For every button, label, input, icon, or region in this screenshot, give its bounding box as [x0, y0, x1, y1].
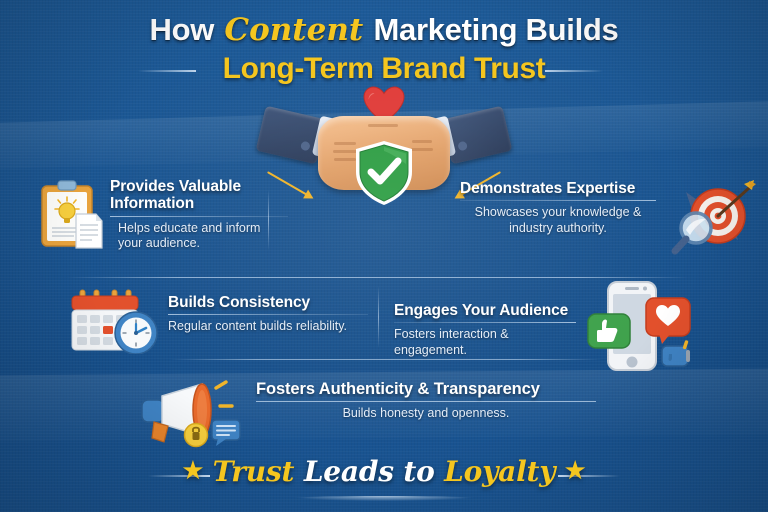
footer-word-leads-to: Leads to: [304, 455, 435, 488]
feature-builds-consistency: Builds Consistency Regular content build…: [68, 288, 368, 335]
divider-vertical-middle: [378, 286, 379, 348]
feature-fosters-authenticity-transparency: Fosters Authenticity & Transparency Buil…: [140, 380, 610, 422]
shield-check-icon: [354, 140, 414, 206]
feature-subtext: Builds honesty and openness.: [256, 406, 596, 422]
feature-heading: Fosters Authenticity & Transparency: [256, 380, 596, 398]
title-word-content: Content: [222, 12, 365, 48]
clipboard-lightbulb-icon: [38, 178, 104, 252]
title-line-2: Long-Term Brand Trust: [223, 52, 546, 86]
page-title: How Content Marketing Builds Long-Term B…: [0, 14, 768, 88]
feature-heading: Demonstrates Expertise: [460, 180, 656, 197]
footer-word-trust: Trust: [213, 455, 295, 488]
star-left-icon: ★: [183, 457, 203, 484]
handshake-cuff-right: [442, 106, 513, 165]
feature-underline: [256, 401, 596, 402]
feature-demonstrates-expertise: Demonstrates Expertise Showcases your kn…: [460, 180, 750, 237]
feature-heading: Builds Consistency: [168, 294, 368, 311]
calendar-clock-icon: [68, 288, 160, 354]
footer-word-loyalty: Loyalty: [444, 455, 555, 488]
target-magnifier-icon: [666, 178, 758, 260]
title-rule-left: [138, 70, 196, 72]
infographic-canvas: How Content Marketing Builds Long-Term B…: [0, 0, 768, 512]
feature-subtext: Showcases your knowledge & industry auth…: [460, 205, 656, 236]
feature-underline: [394, 322, 576, 323]
feature-subtext: Fosters interaction & engagement.: [394, 327, 576, 358]
footer-tagline: ★ Trust Leads to Loyalty ★: [183, 455, 586, 488]
feature-heading: Provides Valuable Information: [110, 178, 288, 213]
megaphone-lock-icon: [140, 380, 250, 448]
title-line-1: How Content Marketing Builds: [0, 14, 768, 47]
feature-heading: Engages Your Audience: [394, 302, 576, 319]
feature-underline: [168, 314, 368, 315]
title-word-how: How: [150, 12, 215, 47]
feature-provides-valuable-information: Provides Valuable Information Helps educ…: [38, 178, 288, 252]
feature-subtext: Regular content builds reliability.: [168, 319, 368, 335]
footer-swoosh: [289, 496, 479, 501]
phone-reactions-icon: [580, 276, 700, 376]
title-line-2-row: Long-Term Brand Trust: [0, 52, 768, 88]
title-rule-right: [545, 70, 603, 72]
feature-underline: [110, 216, 288, 217]
feature-engages-your-audience: Engages Your Audience Fosters interactio…: [394, 290, 744, 359]
title-word-marketing-builds: Marketing Builds: [374, 12, 619, 47]
feature-subtext: Helps educate and inform your audience.: [118, 221, 288, 252]
star-right-icon: ★: [565, 457, 585, 484]
footer-banner: ★ Trust Leads to Loyalty ★: [0, 455, 768, 501]
feature-underline: [460, 200, 656, 201]
divider-row-2: [170, 359, 602, 360]
